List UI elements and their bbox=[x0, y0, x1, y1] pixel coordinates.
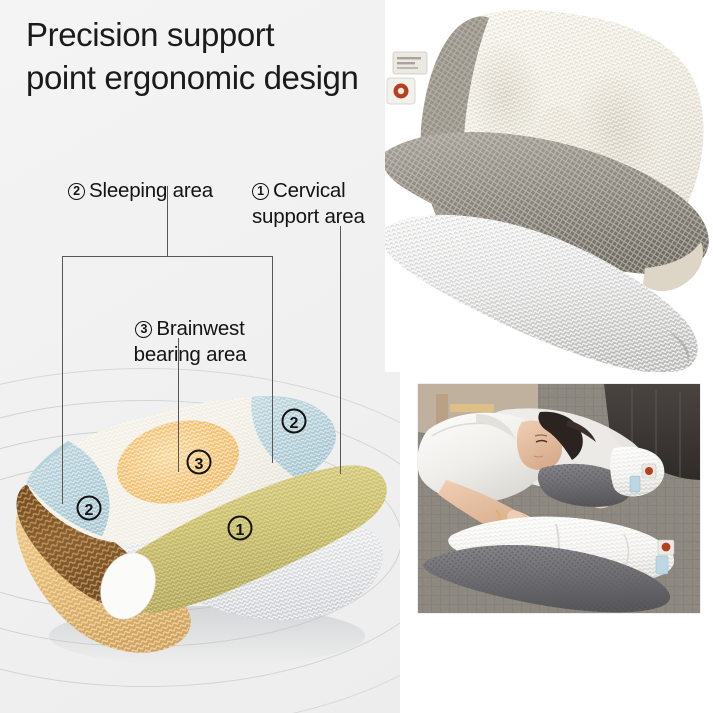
photo-wood-strip bbox=[450, 404, 494, 412]
svg-text:2: 2 bbox=[290, 415, 299, 432]
callout-number-2: 2 bbox=[68, 183, 85, 200]
svg-text:3: 3 bbox=[195, 456, 204, 473]
svg-text:2: 2 bbox=[85, 502, 94, 519]
callout-label-sleeping: Sleeping area bbox=[89, 179, 213, 202]
lifestyle-photo-woman-sleeping bbox=[417, 383, 701, 614]
product-photo-stacked-pillows bbox=[385, 0, 713, 372]
leader-line-cervical bbox=[340, 226, 341, 474]
callout-label-cervical: Cervical support area bbox=[252, 179, 365, 228]
page-title: Precision support point ergonomic design bbox=[26, 14, 426, 100]
callout-number-1: 1 bbox=[252, 183, 269, 200]
callout-brainwest-area: 3Brainwest bearing area bbox=[100, 290, 280, 369]
svg-text:1: 1 bbox=[236, 522, 245, 539]
left-diagram-panel: 2 3 2 1 2 bbox=[0, 0, 400, 713]
callout-sleeping-area: 2Sleeping area bbox=[68, 152, 213, 204]
callout-number-3: 3 bbox=[135, 321, 152, 338]
infographic-page: 2 3 2 1 2 bbox=[0, 0, 713, 713]
callout-cervical-area: 1Cervical support area bbox=[252, 152, 387, 231]
leader-line-sleeping-left bbox=[62, 256, 63, 504]
leader-line-bracket bbox=[62, 256, 273, 257]
